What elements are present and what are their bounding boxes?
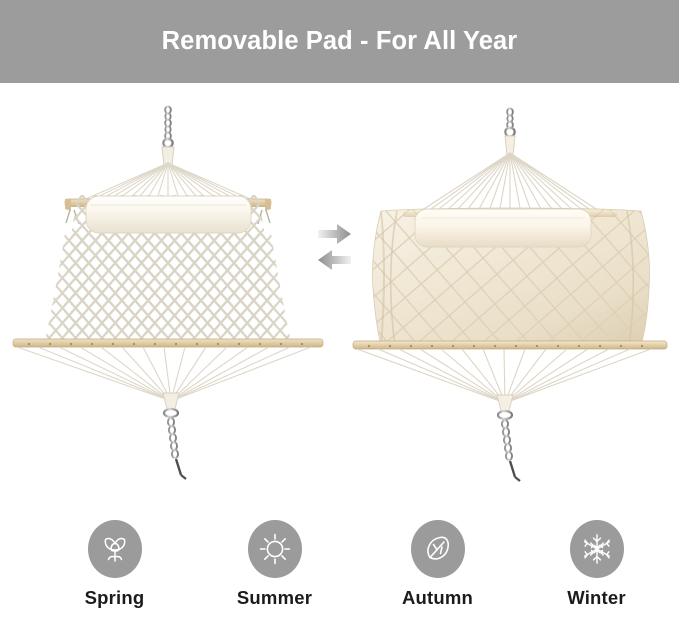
hanging-chain-top <box>505 97 514 136</box>
product-comparison-stage <box>0 83 679 503</box>
bottom-spreader-bar <box>353 341 667 349</box>
banner-title: Removable Pad - For All Year <box>162 27 518 56</box>
snowflake-icon <box>580 532 614 566</box>
seasons-row: Spring <box>0 520 679 621</box>
season-label-spring: Spring <box>85 587 145 609</box>
product-feature-image: Removable Pad - For All Year <box>0 0 679 621</box>
rope-hammock-illustration <box>3 83 333 503</box>
season-label-autumn: Autumn <box>402 587 473 609</box>
rope-gather-collar <box>505 136 515 155</box>
bottom-rope-collar <box>497 395 513 411</box>
tulip-flower-icon <box>98 531 132 567</box>
header-banner: Removable Pad - For All Year <box>0 0 679 83</box>
rope-gather-collar <box>162 147 174 165</box>
season-label-winter: Winter <box>567 587 626 609</box>
season-badge-winter <box>570 520 624 578</box>
bolster-pillow <box>415 209 591 247</box>
season-label-summer: Summer <box>237 587 312 609</box>
bolster-pillow <box>86 196 251 233</box>
hanging-chain-bottom <box>498 411 520 481</box>
season-badge-spring <box>88 520 142 578</box>
hanging-chain-top <box>163 97 172 147</box>
spreader-bar-end-left <box>65 199 71 211</box>
season-item-autumn: Autumn <box>360 520 515 609</box>
top-suspension-ropes <box>413 153 607 216</box>
bottom-rope-collar <box>163 393 179 409</box>
rope-hammock-without-pad <box>3 83 333 503</box>
hammock-with-quilted-pad <box>345 83 675 503</box>
hanging-chain-bottom <box>164 409 186 479</box>
season-item-summer: Summer <box>197 520 352 609</box>
rope-net-lower <box>33 223 313 353</box>
leaf-icon <box>421 532 455 566</box>
padded-hammock-illustration <box>345 83 675 503</box>
season-badge-autumn <box>411 520 465 578</box>
sun-icon <box>257 531 293 567</box>
season-item-spring: Spring <box>37 520 192 609</box>
season-badge-summer <box>248 520 302 578</box>
spreader-bar-end-right <box>265 199 271 211</box>
bottom-spreader-bar <box>13 339 323 347</box>
season-item-winter: Winter <box>519 520 674 609</box>
